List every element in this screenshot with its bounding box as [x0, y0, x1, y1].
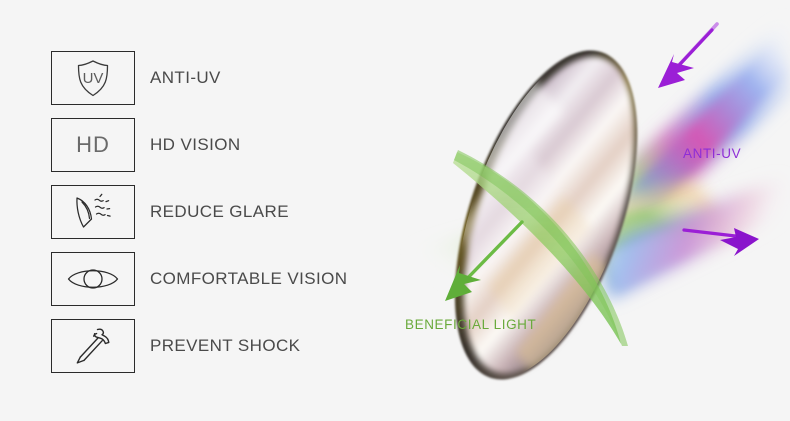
feature-list: UV ANTI-UV HD HD VISION — [51, 51, 391, 386]
eye-icon — [51, 252, 135, 306]
beneficial-light-beam-label: BENEFICIAL LIGHT — [405, 317, 536, 332]
glare-reduction-icon — [51, 185, 135, 239]
uv-shield-icon: UV — [51, 51, 135, 105]
anti-uv-incoming-arrow — [658, 24, 717, 88]
infographic-canvas: UV ANTI-UV HD HD VISION — [0, 0, 790, 421]
hd-badge-icon-text: HD — [76, 134, 110, 156]
feature-label-hd-vision: HD VISION — [150, 135, 241, 155]
uv-shield-icon-text: UV — [83, 70, 104, 87]
hammer-icon — [51, 319, 135, 373]
feature-item-hd-vision: HD HD VISION — [51, 118, 391, 172]
feature-item-reduce-glare: REDUCE GLARE — [51, 185, 391, 239]
lens-illustration: ANTI-UV BENEFICIAL LIGHT — [396, 0, 790, 421]
hd-badge-icon: HD — [51, 118, 135, 172]
feature-label-reduce-glare: REDUCE GLARE — [150, 202, 289, 222]
feature-item-prevent-shock: PREVENT SHOCK — [51, 319, 391, 373]
anti-uv-beam-label: ANTI-UV — [683, 146, 741, 161]
feature-label-prevent-shock: PREVENT SHOCK — [150, 336, 300, 356]
feature-label-comfortable-vision: COMFORTABLE VISION — [150, 269, 347, 289]
feature-item-comfortable-vision: COMFORTABLE VISION — [51, 252, 391, 306]
feature-label-anti-uv: ANTI-UV — [150, 68, 221, 88]
feature-item-anti-uv: UV ANTI-UV — [51, 51, 391, 105]
